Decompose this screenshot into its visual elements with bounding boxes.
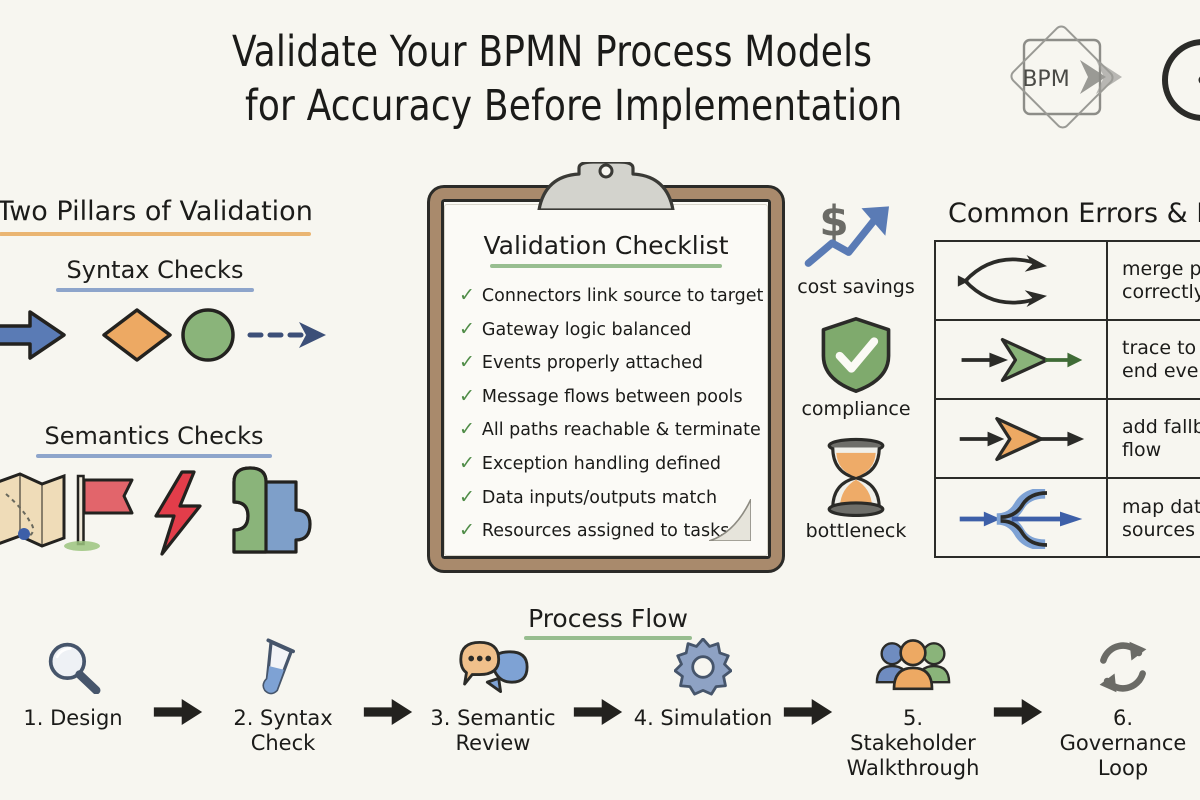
check-icon: ✓ bbox=[459, 387, 475, 406]
refresh-loop-icon bbox=[1050, 636, 1196, 698]
clipboard-paper: Validation Checklist ✓Connectors link so… bbox=[444, 204, 768, 556]
semantics-checks-heading: Semantics Checks bbox=[14, 422, 294, 458]
table-cell-fix: merge paths correctly bbox=[1108, 242, 1200, 319]
process-step-2: 2. Syntax Check bbox=[210, 636, 356, 756]
blue-data-crossing-icon bbox=[936, 479, 1108, 558]
table-cell-fix: add fallback flow bbox=[1108, 400, 1200, 477]
benefits-column: $ cost savings compliance bbox=[786, 192, 926, 558]
clock-icon bbox=[1158, 34, 1200, 126]
step-line-2: Walkthrough bbox=[847, 756, 980, 780]
benefit-cost-savings: $ cost savings bbox=[786, 192, 926, 298]
bpm-badge-icon: BPM bbox=[1002, 24, 1134, 130]
checklist-item: ✓Connectors link source to target bbox=[459, 280, 761, 314]
checklist-item-label: Events properly attached bbox=[482, 347, 703, 381]
fix-line-1: add fallback bbox=[1122, 416, 1200, 438]
blue-underline bbox=[36, 454, 272, 458]
clipboard-clasp bbox=[531, 162, 681, 210]
syntax-icon-row bbox=[0, 300, 334, 370]
check-icon: ✓ bbox=[459, 353, 475, 372]
checklist-item: ✓Exception handling defined bbox=[459, 448, 761, 482]
process-step-label: 4. Simulation bbox=[630, 706, 776, 731]
process-step-label: 5. Stakeholder Walkthrough bbox=[840, 706, 986, 780]
table-cell-fix: trace to end event bbox=[1108, 321, 1200, 398]
two-pillars-heading-text: Two Pillars of Validation bbox=[0, 196, 313, 227]
process-step-label: 2. Syntax Check bbox=[210, 706, 356, 756]
benefit-label: compliance bbox=[786, 398, 926, 420]
checklist-item-label: All paths reachable & terminate bbox=[482, 414, 761, 448]
map-icon bbox=[0, 474, 64, 546]
process-step-label: 3. Semantic Review bbox=[420, 706, 566, 756]
fix-line-2: end event bbox=[1122, 360, 1200, 382]
speech-bubbles-icon bbox=[420, 636, 566, 698]
infographic-canvas: Validate Your BPMN Process Models for Ac… bbox=[0, 0, 1200, 800]
fix-line-2: flow bbox=[1122, 439, 1161, 461]
benefit-label: cost savings bbox=[786, 276, 926, 298]
flow-arrow-icon bbox=[356, 636, 420, 726]
process-flow-heading-text: Process Flow bbox=[528, 604, 688, 633]
step-line-1: 6. Governance bbox=[1060, 706, 1187, 755]
sequence-flow-arrow-icon bbox=[0, 312, 64, 358]
message-flow-dashed-arrow-icon bbox=[250, 322, 326, 348]
gear-icon bbox=[630, 636, 776, 698]
two-pillars-heading: Two Pillars of Validation bbox=[0, 196, 314, 236]
title-line-2: for Accuracy Before Implementation bbox=[232, 80, 939, 134]
check-icon: ✓ bbox=[459, 454, 475, 473]
svg-text:$: $ bbox=[819, 197, 848, 246]
process-step-4: 4. Simulation bbox=[630, 636, 776, 731]
split-paths-arrows-icon bbox=[936, 242, 1108, 319]
table-row: merge paths correctly bbox=[936, 242, 1200, 321]
checklist-item-label: Resources assigned to tasks bbox=[482, 515, 729, 549]
checklist-item: ✓Gateway logic balanced bbox=[459, 314, 761, 348]
flag-icon bbox=[64, 476, 132, 551]
checklist-item-label: Connectors link source to target bbox=[482, 280, 763, 314]
gateway-diamond-icon bbox=[104, 310, 170, 360]
event-circle-icon bbox=[183, 310, 233, 360]
checklist-item: ✓Message flows between pools bbox=[459, 381, 761, 415]
flow-arrow-icon bbox=[146, 636, 210, 726]
title-line-1: Validate Your BPMN Process Models bbox=[232, 27, 872, 77]
checklist-item: ✓All paths reachable & terminate bbox=[459, 414, 761, 448]
fix-line-1: trace to bbox=[1122, 337, 1196, 359]
step-line-1: 5. Stakeholder bbox=[850, 706, 976, 755]
fix-line-1: map data bbox=[1122, 496, 1200, 518]
fix-line-2: sources bbox=[1122, 519, 1195, 541]
page-title: Validate Your BPMN Process Models for Ac… bbox=[232, 26, 939, 134]
checklist-item-label: Exception handling defined bbox=[482, 448, 721, 482]
process-step-label: 1. Design bbox=[0, 706, 146, 731]
common-errors-heading: Common Errors & Fixes bbox=[948, 198, 1200, 229]
flow-arrow-icon bbox=[566, 636, 630, 726]
process-step-6: 6. Governance Loop bbox=[1050, 636, 1196, 780]
syntax-checks-heading: Syntax Checks bbox=[20, 256, 290, 292]
semantics-icon-row bbox=[0, 466, 326, 558]
checklist-item-label: Data inputs/outputs match bbox=[482, 482, 717, 516]
benefit-compliance: compliance bbox=[786, 314, 926, 420]
checklist-title: Validation Checklist bbox=[445, 231, 767, 268]
magnifier-icon bbox=[0, 636, 146, 698]
process-flow-steps: 1. Design 2. Syntax Check bbox=[0, 636, 1200, 800]
people-group-icon bbox=[840, 636, 986, 698]
fix-line-1: merge paths bbox=[1122, 258, 1200, 280]
semantics-checks-heading-text: Semantics Checks bbox=[44, 422, 263, 450]
process-step-label: 6. Governance Loop bbox=[1050, 706, 1196, 780]
validation-checklist-clipboard: Validation Checklist ✓Connectors link so… bbox=[430, 188, 782, 570]
check-icon: ✓ bbox=[459, 521, 475, 540]
test-tube-icon bbox=[210, 636, 356, 698]
checklist-item-label: Gateway logic balanced bbox=[482, 314, 692, 348]
process-step-1: 1. Design bbox=[0, 636, 146, 731]
process-step-3: 3. Semantic Review bbox=[420, 636, 566, 756]
puzzle-piece-icon bbox=[234, 468, 310, 552]
step-line-2: Check bbox=[251, 731, 316, 755]
checklist-title-text: Validation Checklist bbox=[483, 231, 728, 260]
benefit-bottleneck: bottleneck bbox=[786, 436, 926, 542]
fix-line-2: correctly bbox=[1122, 281, 1200, 303]
step-line-2: Loop bbox=[1098, 756, 1148, 780]
table-cell-fix: map data sources bbox=[1108, 479, 1200, 558]
step-line-1: 2. Syntax bbox=[233, 706, 332, 730]
page-curl bbox=[709, 499, 751, 541]
green-underline bbox=[490, 264, 722, 268]
shield-check-icon bbox=[786, 314, 926, 396]
syntax-checks-heading-text: Syntax Checks bbox=[67, 256, 244, 284]
green-arrow-dead-end-icon bbox=[936, 321, 1108, 398]
flow-arrow-icon bbox=[986, 636, 1050, 726]
common-errors-table: merge paths correctly trace to end event bbox=[934, 240, 1200, 558]
step-line-1: 4. Simulation bbox=[634, 706, 773, 730]
svg-text:BPM: BPM bbox=[1022, 67, 1069, 92]
check-icon: ✓ bbox=[459, 420, 475, 439]
benefit-label: bottleneck bbox=[786, 520, 926, 542]
process-flow-heading: Process Flow bbox=[519, 604, 697, 640]
table-row: add fallback flow bbox=[936, 400, 1200, 479]
checklist-item-label: Message flows between pools bbox=[482, 381, 743, 415]
step-line-1: 1. Design bbox=[23, 706, 122, 730]
flow-arrow-icon bbox=[776, 636, 840, 726]
hourglass-icon bbox=[786, 436, 926, 518]
check-icon: ✓ bbox=[459, 286, 475, 305]
step-line-1: 3. Semantic bbox=[430, 706, 555, 730]
orange-underline bbox=[0, 232, 311, 236]
check-icon: ✓ bbox=[459, 320, 475, 339]
blue-underline bbox=[56, 288, 254, 292]
lightning-bolt-icon bbox=[156, 472, 200, 554]
orange-gateway-arrow-icon bbox=[936, 400, 1108, 477]
dollar-growth-arrow-icon: $ bbox=[786, 192, 926, 274]
checklist-item: ✓Events properly attached bbox=[459, 347, 761, 381]
table-row: trace to end event bbox=[936, 321, 1200, 400]
process-step-5: 5. Stakeholder Walkthrough bbox=[840, 636, 986, 780]
table-row: map data sources bbox=[936, 479, 1200, 558]
check-icon: ✓ bbox=[459, 488, 475, 507]
step-line-2: Review bbox=[456, 731, 531, 755]
